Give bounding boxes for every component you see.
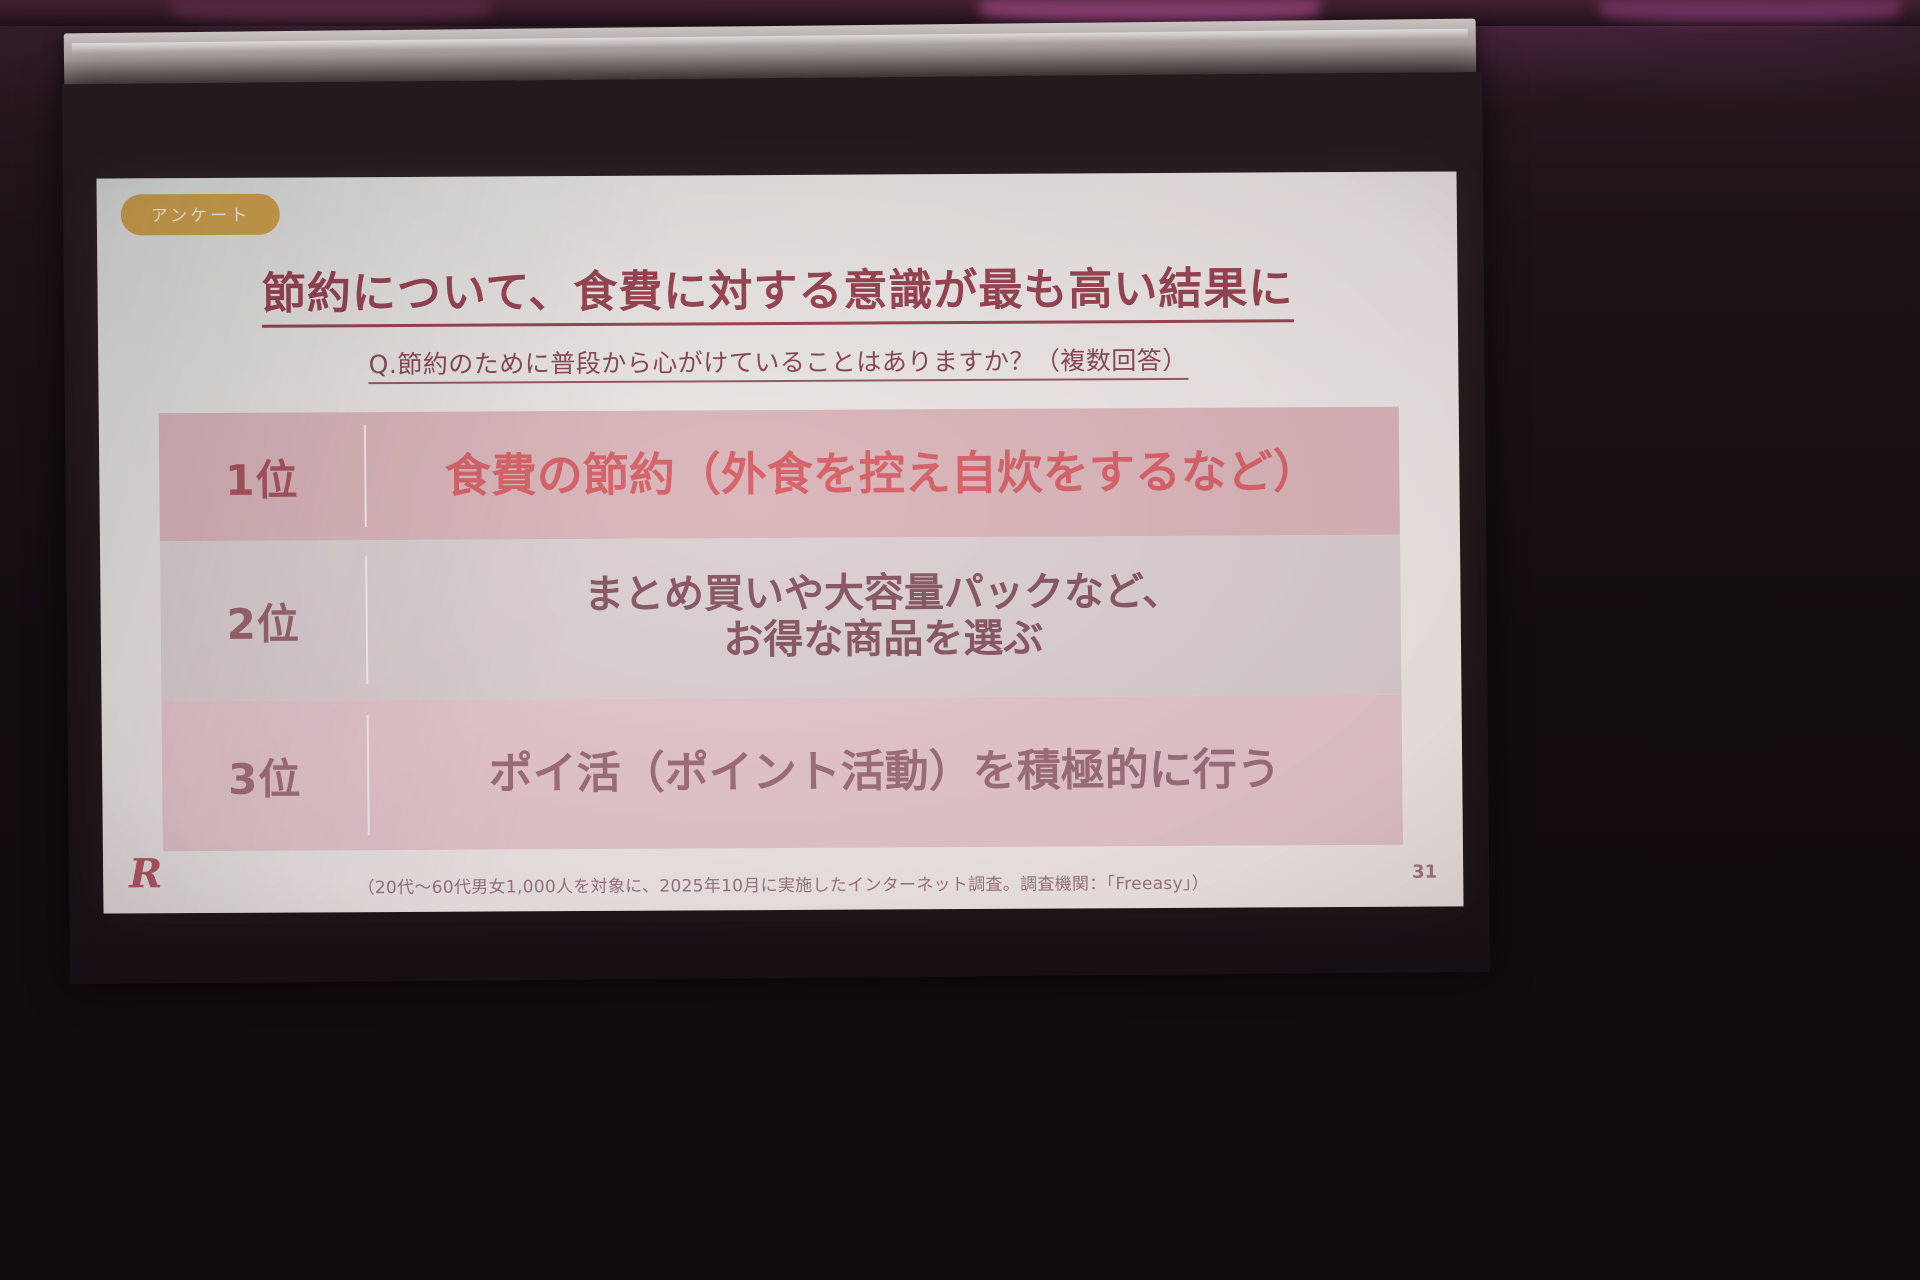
rank-answer: まとめ買いや大容量パックなど、 お得な商品を選ぶ [365,569,1401,666]
ranking-table: 1位 食費の節約（外食を控え自炊をするなど） 2位 まとめ買いや大容量パックなど… [159,407,1403,851]
rank-answer: ポイ活（ポイント活動）を積極的に行う [367,745,1402,801]
rank-label: 2位 [160,590,366,652]
rank-label: 1位 [159,446,365,508]
survey-badge: アンケート [121,194,281,236]
rank-answer-line: 食費の節約（外食を控え自炊をするなど） [370,445,1393,503]
ceiling-spot-light [980,0,1320,22]
survey-question-text: Q.節約のために普段から心がけていることはありますか？（複数回答） [369,346,1188,384]
ceiling-spot-light [170,0,490,22]
page-title-text: 節約について、食費に対する意識が最も高い結果に [262,263,1294,327]
rank-answer: 食費の節約（外食を控え自炊をするなど） [364,445,1399,503]
room-background: ✛ アンケート 節約について、食費に対する意識が最も高い結果に Q.節約のために… [0,0,1920,1280]
projected-slide: アンケート 節約について、食費に対する意識が最も高い結果に Q.節約のために普段… [96,171,1463,913]
table-row: 1位 食費の節約（外食を控え自炊をするなど） [159,407,1400,541]
table-row: 3位 ポイ活（ポイント活動）を積極的に行う [161,695,1402,851]
rank-answer-line: ポイ活（ポイント活動）を積極的に行う [373,745,1396,801]
rakuten-logo-icon: R [129,853,169,897]
table-row: 2位 まとめ買いや大容量パックなど、 お得な商品を選ぶ [160,535,1402,701]
page-number: 31 [1412,862,1437,883]
ceiling-spot-light [1600,0,1900,22]
page-title: 節約について、食費に対する意識が最も高い結果に [97,251,1458,322]
rank-answer-line: お得な商品を選ぶ [372,615,1395,666]
survey-footnote: （20代〜60代男女1,000人を対象に、2025年10月に実施したインターネッ… [103,867,1463,899]
rank-answer-line: まとめ買いや大容量パックなど、 [371,569,1394,620]
rank-label: 3位 [162,745,368,807]
survey-question: Q.節約のために普段から心がけていることはありますか？（複数回答） [98,339,1458,382]
